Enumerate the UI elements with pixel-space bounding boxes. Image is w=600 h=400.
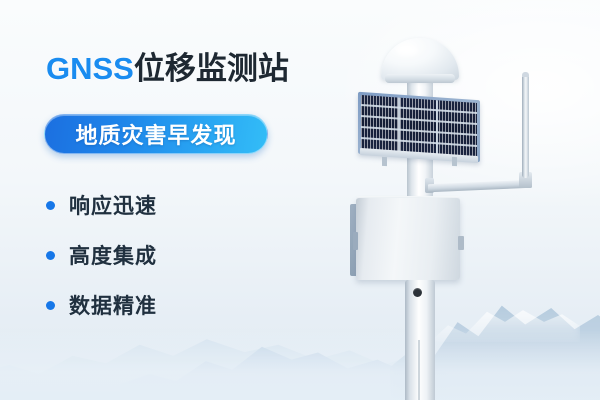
bullet-dot-icon — [46, 251, 55, 260]
feature-label: 响应迅速 — [69, 190, 157, 220]
panel-grid-line — [361, 115, 477, 125]
panel-bracket — [382, 157, 387, 166]
panel-grid-line — [398, 98, 400, 152]
title-subject: 位移监测站 — [134, 51, 289, 86]
promo-banner: 环境监测站 GNSS位移监测站 地质灾害早发现 响应迅速 高度集成 数据精准 — [0, 0, 600, 400]
antenna-tip — [522, 72, 529, 77]
dome-highlight — [396, 45, 418, 56]
page-title: GNSS位移监测站 — [46, 53, 289, 84]
cable-port-icon — [413, 288, 422, 297]
feature-list: 响应迅速 高度集成 数据精准 — [46, 180, 286, 330]
tagline-text: 地质灾害早发现 — [75, 118, 236, 150]
feature-label: 数据精准 — [69, 290, 157, 320]
title-brand: GNSS — [46, 51, 134, 86]
panel-grid-line — [361, 126, 477, 136]
panel-grid-line — [361, 137, 477, 147]
enclosure-latch-left — [353, 232, 358, 250]
whip-antenna-icon — [522, 74, 529, 178]
list-item: 数据精准 — [46, 280, 286, 330]
list-item: 高度集成 — [46, 230, 286, 280]
enclosure-latch-right — [458, 236, 464, 250]
panel-grid-line — [436, 100, 438, 154]
dome-base-ring — [385, 74, 455, 83]
feature-label: 高度集成 — [69, 240, 157, 270]
pole-seam — [418, 340, 420, 400]
bullet-dot-icon — [46, 301, 55, 310]
bullet-dot-icon — [46, 201, 55, 210]
solar-panel-cells — [361, 95, 477, 157]
mounting-pole-lower — [405, 280, 435, 400]
equipment-enclosure: 环境监测站 — [356, 198, 460, 280]
tagline-badge: 地质灾害早发现 — [44, 114, 268, 154]
list-item: 响应迅速 — [46, 180, 286, 230]
panel-bracket — [452, 157, 457, 166]
antenna-support-arm — [428, 180, 532, 193]
panel-grid-line — [361, 104, 477, 114]
